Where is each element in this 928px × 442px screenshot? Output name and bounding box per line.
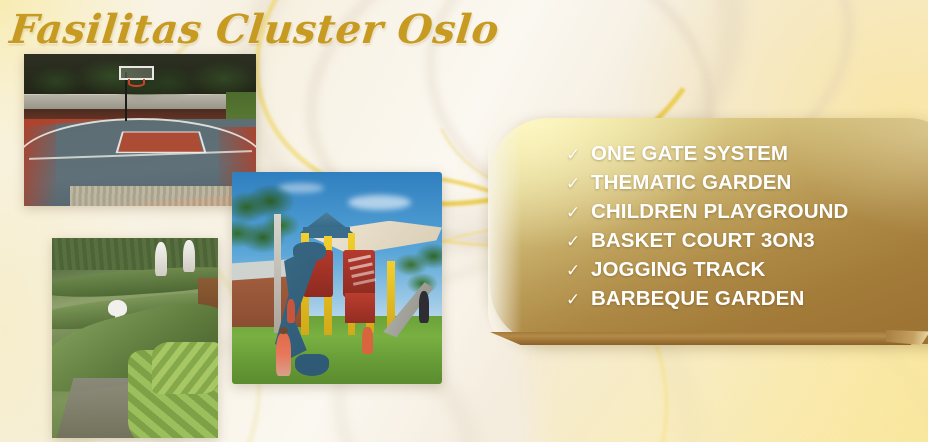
- photo-child: [287, 299, 295, 322]
- photo-gravel: [70, 186, 256, 206]
- photo-child: [276, 333, 291, 375]
- photo-play-panel: [345, 293, 374, 323]
- photo-hedge-maze: [152, 342, 218, 394]
- check-icon: ✓: [566, 291, 580, 308]
- feature-item-basket-court-3on3[interactable]: ✓ BASKET COURT 3ON3: [566, 231, 848, 260]
- feature-label: ONE GATE SYSTEM: [591, 144, 788, 165]
- feature-panel: ✓ ONE GATE SYSTEM ✓ THEMATIC GARDEN ✓ CH…: [490, 118, 928, 344]
- feature-label: BARBEQUE GARDEN: [591, 289, 804, 310]
- check-icon: ✓: [566, 233, 580, 250]
- feature-list: ✓ ONE GATE SYSTEM ✓ THEMATIC GARDEN ✓ CH…: [566, 144, 848, 318]
- photo-backboard: [119, 66, 154, 80]
- photo-child: [362, 327, 373, 355]
- feature-item-children-playground[interactable]: ✓ CHILDREN PLAYGROUND: [566, 202, 848, 231]
- photo-hoop-net: [128, 79, 144, 87]
- page-title: Fasilitas Cluster Oslo: [8, 8, 501, 52]
- feature-label: JOGGING TRACK: [591, 260, 765, 281]
- feature-label: BASKET COURT 3ON3: [591, 231, 815, 252]
- panel-bottom-bevel: [490, 332, 928, 345]
- feature-item-one-gate-system[interactable]: ✓ ONE GATE SYSTEM: [566, 144, 848, 173]
- check-icon: ✓: [566, 146, 580, 163]
- feature-label: THEMATIC GARDEN: [591, 173, 791, 194]
- feature-item-thematic-garden[interactable]: ✓ THEMATIC GARDEN: [566, 173, 848, 202]
- photo-fountain-finial: [108, 300, 126, 316]
- photo-basketball-court: [24, 54, 256, 206]
- check-icon: ✓: [566, 204, 580, 221]
- feature-item-jogging-track[interactable]: ✓ JOGGING TRACK: [566, 260, 848, 289]
- feature-label: CHILDREN PLAYGROUND: [591, 202, 848, 223]
- photo-statue: [183, 240, 195, 272]
- photo-play-panel: [343, 250, 375, 297]
- photo-slide-exit: [295, 354, 329, 375]
- slide-canvas: Fasilitas Cluster Oslo: [0, 0, 928, 442]
- photo-lamp-post: [274, 214, 281, 333]
- check-icon: ✓: [566, 262, 580, 279]
- photo-child: [419, 291, 430, 323]
- feature-item-barbeque-garden[interactable]: ✓ BARBEQUE GARDEN: [566, 289, 848, 318]
- photo-statue: [155, 242, 167, 276]
- photo-cloud: [348, 195, 411, 210]
- check-icon: ✓: [566, 175, 580, 192]
- photo-children-playground: [232, 172, 442, 384]
- photo-thematic-garden: [52, 238, 218, 438]
- photo-wall: [24, 95, 256, 109]
